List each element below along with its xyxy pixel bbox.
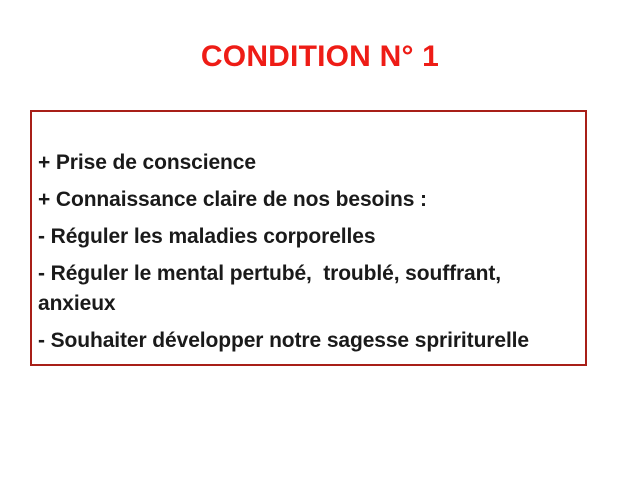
list-item: + Connaissance claire de nos besoins : (38, 185, 571, 215)
list-item: + Prise de conscience (38, 148, 571, 178)
list-item: - Réguler le mental pertubé, troublé, so… (38, 259, 571, 319)
slide-canvas: CONDITION N° 1 + Prise de conscience + C… (0, 0, 640, 480)
list-item: - Réguler les maladies corporelles (38, 222, 571, 252)
list-item: - Souhaiter développer notre sagesse spr… (38, 326, 571, 356)
bullet-list: + Prise de conscience + Connaissance cla… (38, 148, 571, 356)
page-title: CONDITION N° 1 (0, 40, 640, 74)
content-box: + Prise de conscience + Connaissance cla… (30, 110, 587, 366)
